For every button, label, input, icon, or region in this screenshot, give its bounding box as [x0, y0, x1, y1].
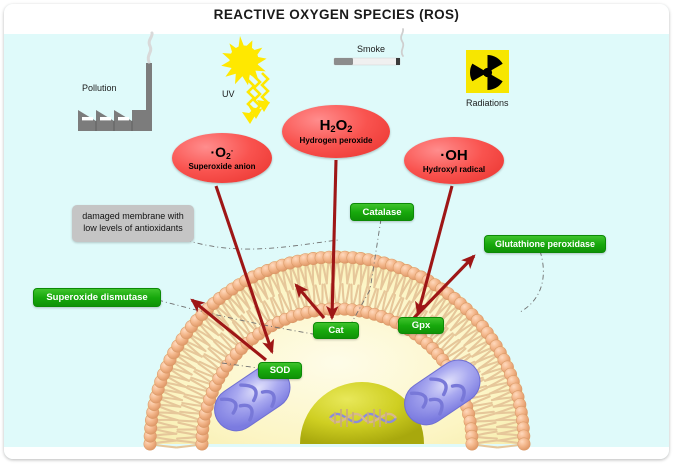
enzyme-tag-superoxide-dismutase: Superoxide dismutase [33, 288, 161, 307]
ros-peroxide-name: Hydrogen peroxide [300, 136, 373, 145]
ros-superoxide-anion: ·O2· Superoxide anion [172, 133, 272, 183]
ros-hydroxyl-radical: ·OH Hydroxyl radical [404, 137, 504, 184]
ros-hydrogen-peroxide: H2O2 Hydrogen peroxide [282, 105, 390, 158]
ros-superoxide-name: Superoxide anion [188, 162, 255, 171]
damaged-membrane-note: damaged membrane with low levels of anti… [72, 205, 194, 242]
ros-superoxide-formula: ·O2· [210, 145, 233, 161]
ros-hydroxyl-formula: ·OH [440, 148, 468, 163]
sun-icon [221, 36, 266, 85]
enzyme-tag-sod: SOD [258, 362, 302, 379]
enzyme-tag-cat: Cat [313, 322, 359, 339]
enzyme-tag-catalase: Catalase [350, 203, 414, 221]
enzyme-tag-gpx: Gpx [398, 317, 444, 334]
source-label-pollution: Pollution [82, 83, 117, 93]
source-label-uv: UV [222, 89, 235, 99]
ros-peroxide-formula: H2O2 [320, 118, 353, 134]
ros-diagram: REACTIVE OXYGEN SPECIES (ROS) [0, 0, 673, 476]
radiation-icon [465, 50, 509, 94]
leader-damaged-membrane [186, 240, 338, 249]
source-label-radiations: Radiations [466, 98, 509, 108]
factory-icon [78, 33, 152, 131]
source-label-smoke: Smoke [357, 44, 385, 54]
enzyme-tag-glutathione-peroxidase: Glutathione peroxidase [484, 235, 606, 253]
ros-hydroxyl-name: Hydroxyl radical [423, 165, 485, 174]
leader-gpx-full [520, 251, 543, 312]
